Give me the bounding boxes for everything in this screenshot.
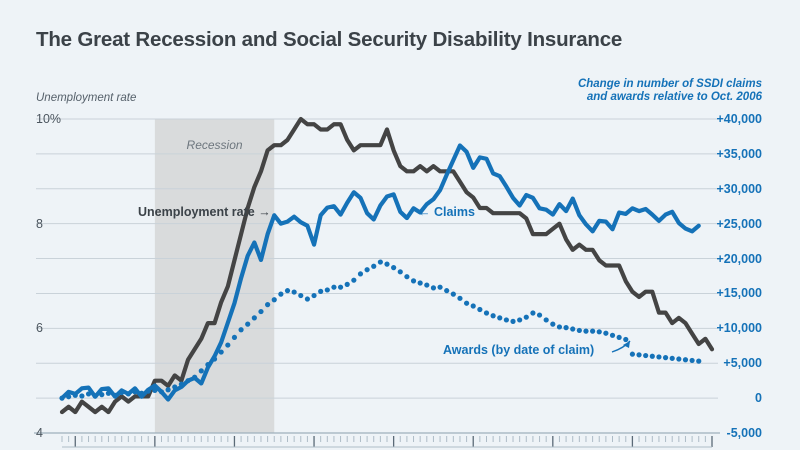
annotation-claims: ← Claims <box>418 205 475 219</box>
annotation-claims-label: Claims <box>434 205 475 219</box>
right-tick-25000: +25,000 <box>716 217 762 231</box>
right-tick-10000: +10,000 <box>716 321 762 335</box>
annotation-awards: Awards (by date of claim) <box>443 343 594 357</box>
left-tick-6: 6 <box>36 321 43 335</box>
right-tick-0: 0 <box>755 391 762 405</box>
right-tick-40000: +40,000 <box>716 112 762 126</box>
right-tick-35000: +35,000 <box>716 147 762 161</box>
arrow-left-icon: ← <box>418 205 431 219</box>
right-tick-15000: +15,000 <box>716 286 762 300</box>
recession-band-label: Recession <box>187 138 243 152</box>
chart-root: The Great Recession and Social Security … <box>0 0 800 450</box>
annotation-unemployment-label: Unemployment rate <box>138 205 255 219</box>
chart-plot <box>0 0 800 450</box>
annotation-unemployment-rate: Unemployment rate → <box>138 205 271 219</box>
left-tick-10: 10% <box>36 112 61 126</box>
right-tick-5000: +5,000 <box>723 356 762 370</box>
arrow-right-icon: → <box>258 205 271 219</box>
left-tick-8: 8 <box>36 217 43 231</box>
right-tick-20000: +20,000 <box>716 252 762 266</box>
right-tick-30000: +30,000 <box>716 182 762 196</box>
left-tick-4: 4 <box>36 426 43 440</box>
annotation-awards-label: Awards (by date of claim) <box>443 343 594 357</box>
right-tick--5000: -5,000 <box>727 426 762 440</box>
